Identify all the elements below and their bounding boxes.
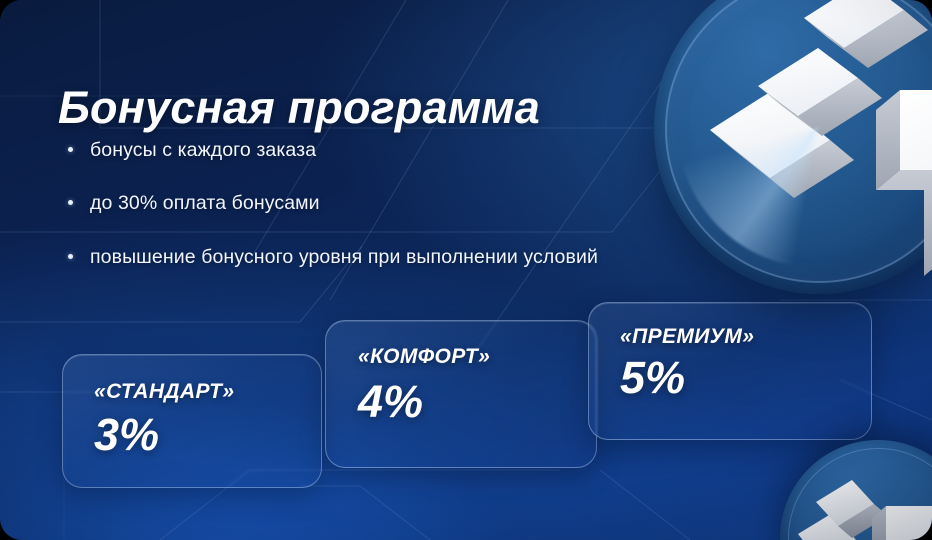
tier-percent: 3%	[94, 412, 159, 457]
company-logo-icon	[654, 0, 932, 294]
company-logo-badge-corner	[780, 440, 932, 540]
tier-card-comfort: «КОМФОРТ» 4%	[325, 320, 597, 468]
company-logo-icon	[780, 440, 932, 540]
tier-name: «ПРЕМИУМ»	[620, 325, 754, 349]
company-logo-badge	[654, 0, 932, 294]
benefit-text: повышение бонусного уровня при выполнени…	[90, 245, 598, 270]
tier-name: «КОМФОРТ»	[358, 345, 490, 369]
page-title: Бонусная программа	[58, 82, 540, 134]
bullet-dot-icon	[68, 254, 73, 259]
tier-name: «СТАНДАРТ»	[94, 380, 234, 404]
tier-percent: 5%	[620, 355, 685, 400]
bullet-dot-icon	[68, 200, 73, 205]
tier-card-premium: «ПРЕМИУМ» 5%	[588, 302, 872, 440]
benefit-text: бонусы с каждого заказа	[90, 138, 316, 163]
benefit-text: до 30% оплата бонусами	[90, 191, 320, 216]
bullet-dot-icon	[68, 147, 73, 152]
bonus-program-banner: Бонусная программа бонусы с каждого зака…	[0, 0, 932, 540]
tier-percent: 4%	[358, 379, 423, 424]
tier-card-standard: «СТАНДАРТ» 3%	[62, 354, 322, 488]
